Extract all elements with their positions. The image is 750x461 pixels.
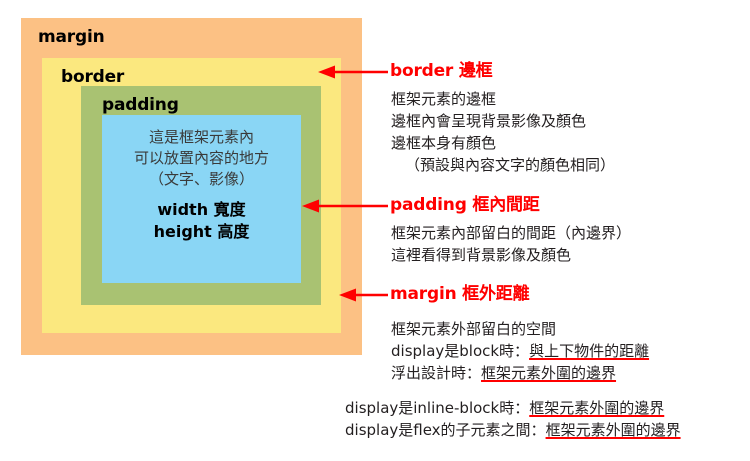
- border-box-label: border: [61, 69, 124, 86]
- border-body-line-3: 邊框本身有顏色: [391, 132, 615, 154]
- border-arrow-icon: [318, 63, 388, 81]
- margin-body-line-3-underlined: 框架元素外圍的邊界: [481, 364, 616, 382]
- margin-box: margin border padding 這是框架元素內 可以放置內容的地方 …: [21, 18, 362, 355]
- content-line-1: 這是框架元素內: [149, 127, 254, 148]
- border-body-line-4: （預設與內容文字的顏色相同）: [391, 154, 615, 176]
- margin-section-body: 框架元素外部留白的空間 display是block時：與上下物件的距離 浮出設計…: [391, 318, 649, 384]
- margin-box-label: margin: [38, 29, 104, 46]
- content-line-2: 可以放置內容的地方: [134, 148, 269, 169]
- content-box: 這是框架元素內 可以放置內容的地方 （文字、影像） width 寬度 heigh…: [102, 115, 301, 283]
- padding-arrow-icon: [302, 197, 388, 215]
- padding-body-line-1: 框架元素內部留白的間距（內邊界）: [391, 222, 631, 244]
- content-width-label: width 寬度: [157, 199, 245, 221]
- border-body-line-1: 框架元素的邊框: [391, 88, 615, 110]
- border-section-title: border 邊框: [390, 63, 492, 80]
- margin-body-line-1: 框架元素外部留白的空間: [391, 318, 649, 340]
- padding-section-title: padding 框內間距: [390, 197, 540, 214]
- padding-box: padding 這是框架元素內 可以放置內容的地方 （文字、影像） width …: [81, 86, 321, 305]
- margin-wide-line-1-prefix: display是inline-block時：: [345, 399, 529, 417]
- margin-wide-line-1: display是inline-block時：框架元素外圍的邊界: [345, 397, 681, 419]
- border-box: border padding 這是框架元素內 可以放置內容的地方 （文字、影像）…: [42, 58, 341, 333]
- margin-body-line-2-underlined: 與上下物件的距離: [529, 342, 649, 360]
- border-body-line-2: 邊框內會呈現背景影像及顏色: [391, 110, 615, 132]
- margin-body-line-3-prefix: 浮出設計時：: [391, 364, 481, 382]
- margin-arrow-icon: [339, 286, 388, 304]
- margin-wide-line-2: display是flex的子元素之間：框架元素外圍的邊界: [345, 419, 681, 441]
- margin-body-line-3: 浮出設計時：框架元素外圍的邊界: [391, 362, 649, 384]
- padding-box-label: padding: [102, 97, 179, 114]
- margin-wide-line-2-prefix: display是flex的子元素之間：: [345, 421, 546, 439]
- margin-section-wide-body: display是inline-block時：框架元素外圍的邊界 display是…: [345, 397, 681, 441]
- margin-wide-line-1-underlined: 框架元素外圍的邊界: [529, 399, 664, 417]
- padding-body-line-2: 這裡看得到背景影像及顏色: [391, 244, 631, 266]
- margin-section-title: margin 框外距離: [390, 286, 529, 303]
- box-model-diagram: margin border padding 這是框架元素內 可以放置內容的地方 …: [21, 18, 362, 355]
- content-height-label: height 高度: [154, 221, 250, 243]
- padding-section-body: 框架元素內部留白的間距（內邊界） 這裡看得到背景影像及顏色: [391, 222, 631, 266]
- margin-body-line-2-prefix: display是block時：: [391, 342, 529, 360]
- margin-body-line-2: display是block時：與上下物件的距離: [391, 340, 649, 362]
- content-line-3: （文字、影像）: [149, 169, 254, 190]
- margin-wide-line-2-underlined: 框架元素外圍的邊界: [546, 421, 681, 439]
- border-section-body: 框架元素的邊框 邊框內會呈現背景影像及顏色 邊框本身有顏色 （預設與內容文字的顏…: [391, 88, 615, 176]
